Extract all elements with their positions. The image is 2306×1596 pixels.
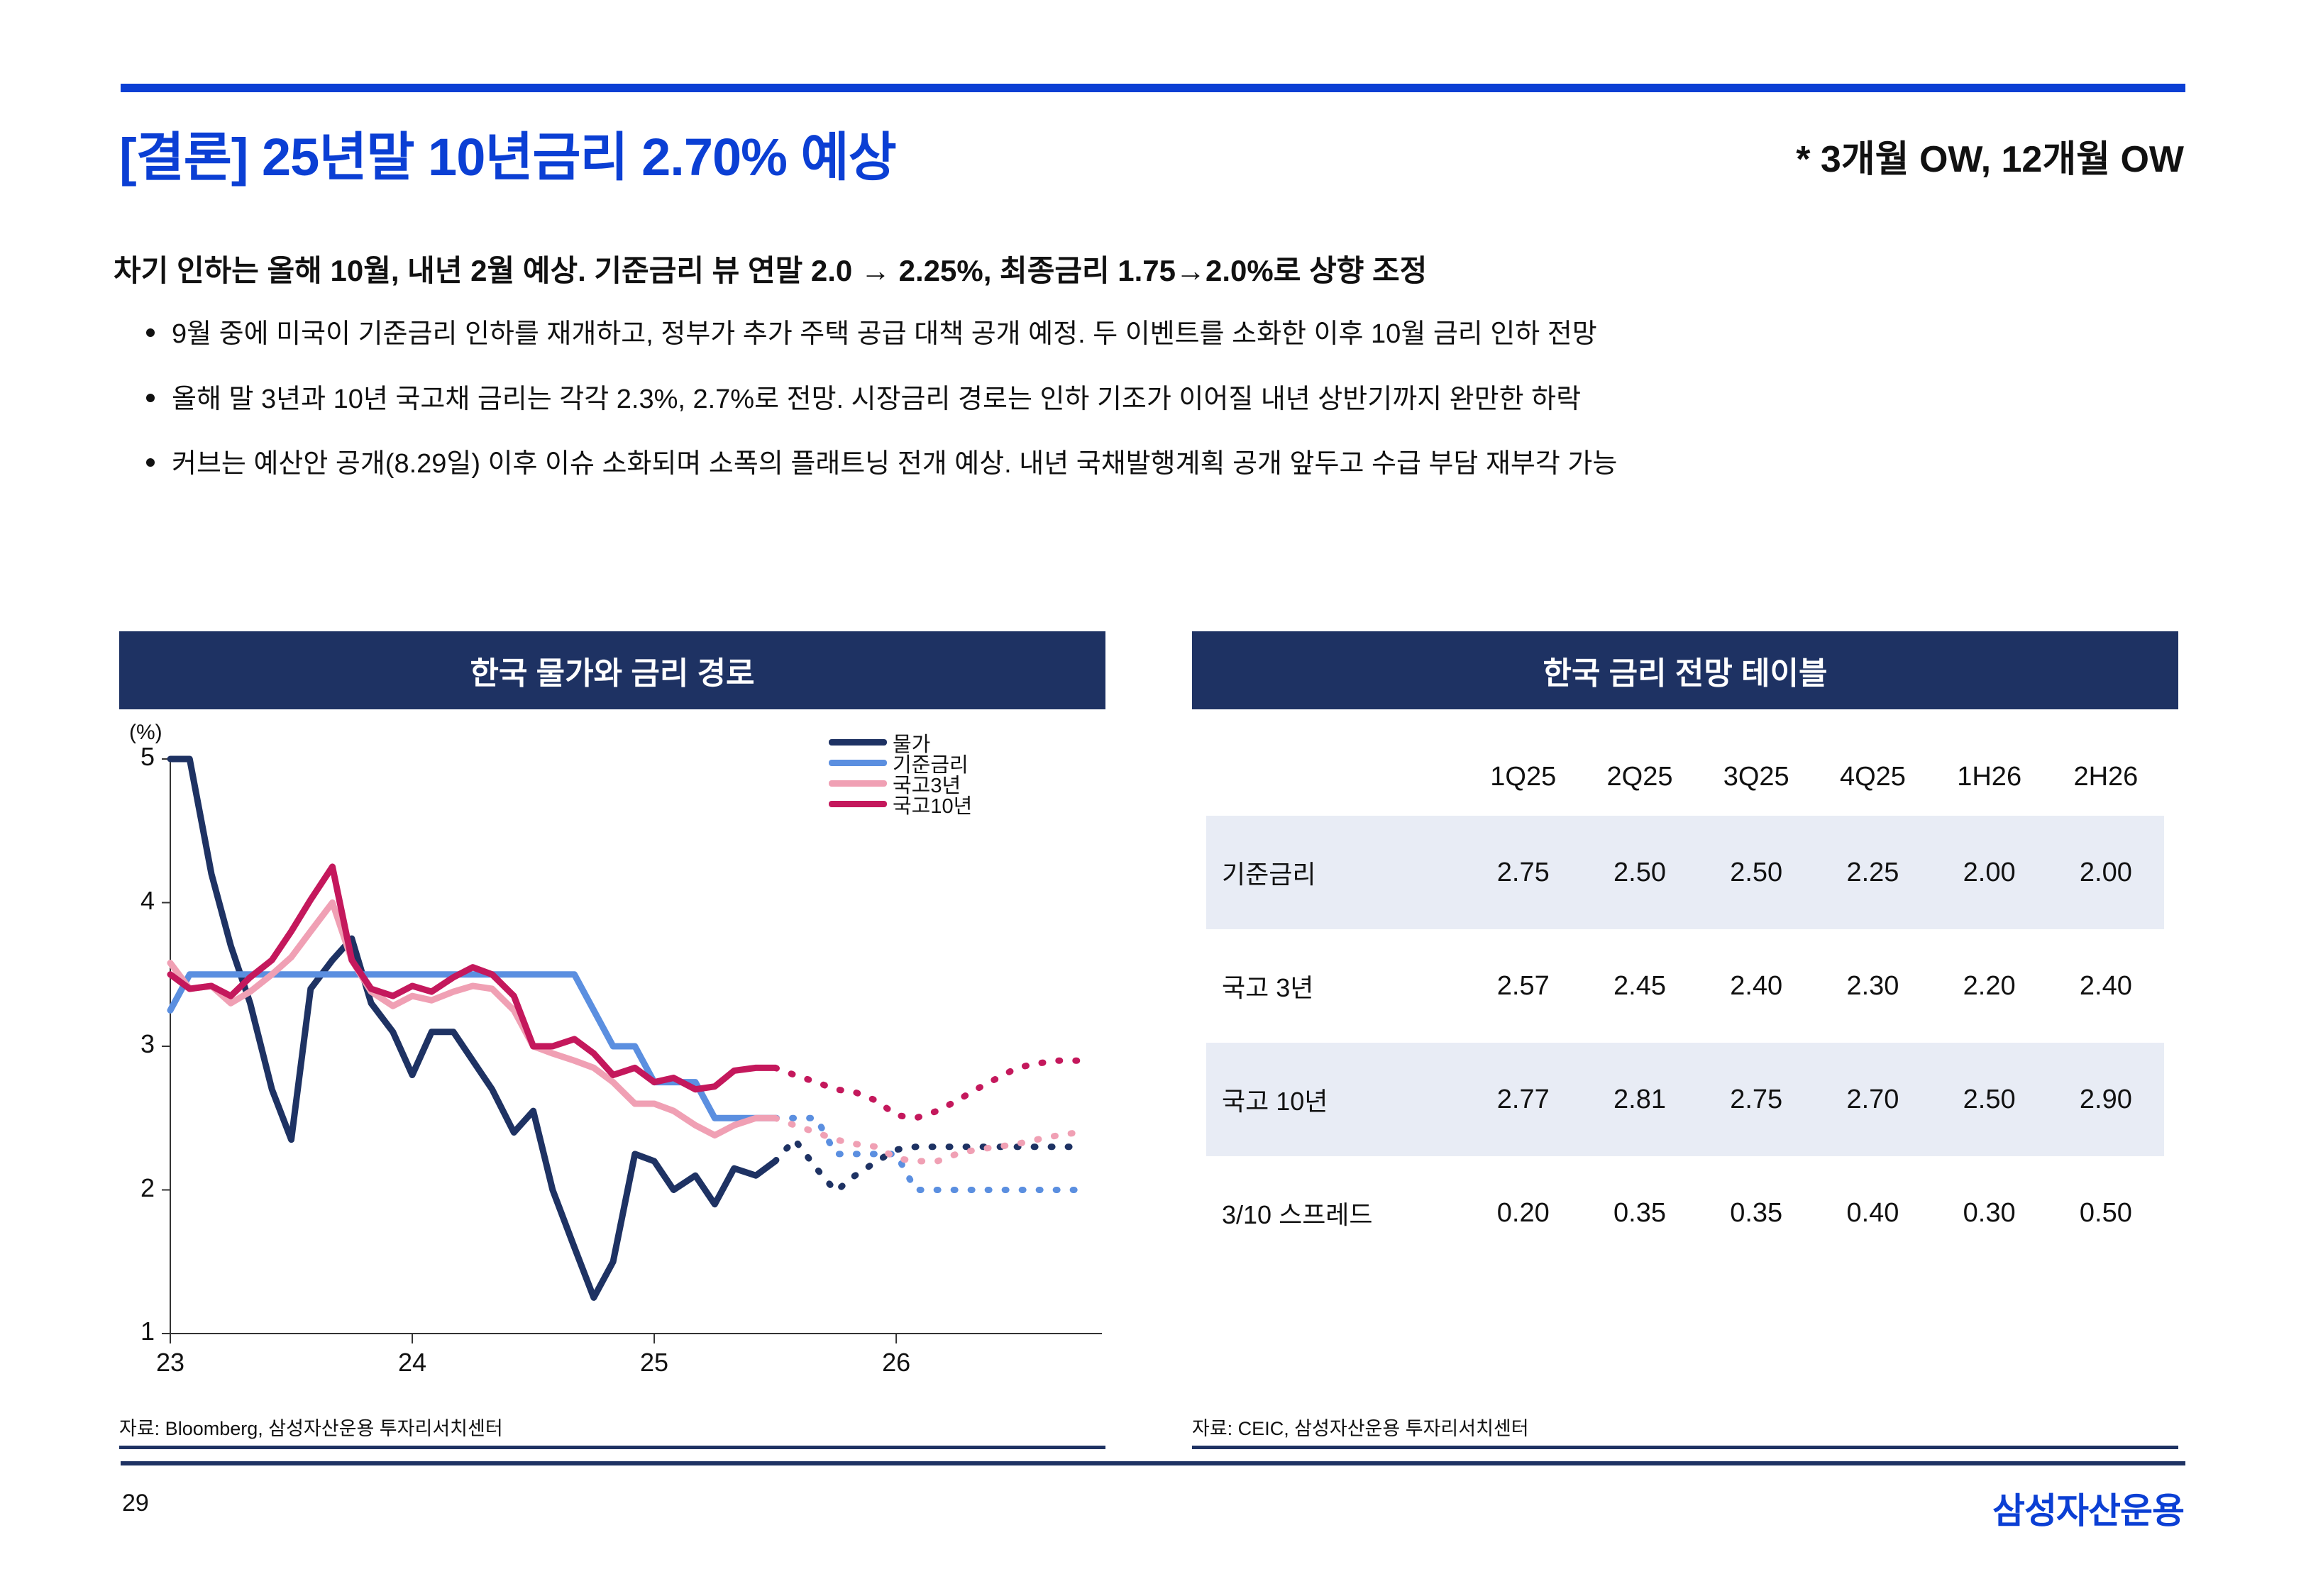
series-line-물가 — [170, 759, 776, 1297]
legend-label: 국고10년 — [893, 789, 972, 819]
table-cell: 2.50 — [1582, 816, 1698, 929]
legend-swatch-icon — [829, 739, 887, 746]
x-tick-label: 26 — [864, 1348, 928, 1378]
y-tick-label: 4 — [112, 886, 155, 916]
bullet-text: 올해 말 3년과 10년 국고채 금리는 각각 2.3%, 2.7%로 전망. … — [172, 384, 1581, 414]
table-panel-heading: 한국 금리 전망 테이블 — [1192, 631, 2178, 709]
table-cell: 2.30 — [1814, 929, 1931, 1043]
bullet-text: 커브는 예산안 공개(8.29일) 이후 이슈 소화되며 소폭의 플래트닝 전개… — [172, 449, 1617, 479]
table-column-header: 3Q25 — [1698, 738, 1814, 816]
legend-item: 국고10년 — [829, 794, 972, 814]
table-source-note: 자료: CEIC, 삼성자산운용 투자리서치센터 — [1192, 1413, 1529, 1441]
table-column-header: 2Q25 — [1582, 738, 1698, 816]
chart-unit-label: (%) — [129, 721, 162, 745]
y-tick-label: 5 — [112, 742, 155, 772]
table-cell: 0.35 — [1698, 1156, 1814, 1270]
page-title: [결론] 25년말 10년금리 2.70% 예상 — [119, 115, 896, 191]
chart-panel-rule — [119, 1446, 1105, 1449]
brand-logo: 삼성자산운용 — [1992, 1483, 2184, 1534]
table-cell: 2.00 — [2048, 816, 2164, 929]
table-header: 1Q252Q253Q254Q251H262H26 — [1206, 738, 2164, 816]
slide-page: [결론] 25년말 10년금리 2.70% 예상 * 3개월 OW, 12개월 … — [0, 0, 2306, 1596]
chart-panel-heading: 한국 물가와 금리 경로 — [119, 631, 1105, 709]
chart-source-note: 자료: Bloomberg, 삼성자산운용 투자리서치센터 — [119, 1413, 503, 1441]
table-cell: 2.81 — [1582, 1043, 1698, 1156]
table-cell: 2.40 — [1698, 929, 1814, 1043]
subtitle: 차기 인하는 올해 10월, 내년 2월 예상. 기준금리 뷰 연말 2.0 →… — [114, 247, 1427, 290]
table-column-header: 2H26 — [2048, 738, 2164, 816]
table-row: 국고 10년2.772.812.752.702.502.90 — [1206, 1043, 2164, 1156]
table-cell: 2.25 — [1814, 816, 1931, 929]
bullet-dot-icon — [146, 458, 155, 467]
table-row: 3/10 스프레드0.200.350.350.400.300.50 — [1206, 1156, 2164, 1270]
table-cell: 2.70 — [1814, 1043, 1931, 1156]
table-cell: 0.30 — [1931, 1156, 2048, 1270]
table-column-header: 4Q25 — [1814, 738, 1931, 816]
bullet-text: 9월 중에 미국이 기준금리 인하를 재개하고, 정부가 추가 주택 공급 대책… — [172, 319, 1597, 349]
chart-legend: 물가기준금리국고3년국고10년 — [829, 732, 972, 814]
rate-path-chart: (%) 물가기준금리국고3년국고10년 1234523242526 — [119, 716, 1105, 1408]
table-cell: 0.20 — [1465, 1156, 1582, 1270]
table-cell: 2.45 — [1582, 929, 1698, 1043]
table-row: 국고 3년2.572.452.402.302.202.40 — [1206, 929, 2164, 1043]
bullet-item: 9월 중에 미국이 기준금리 인하를 재개하고, 정부가 추가 주택 공급 대책… — [142, 319, 2200, 350]
table-cell: 2.20 — [1931, 929, 2048, 1043]
series-forecast-물가 — [776, 1140, 1078, 1192]
bullet-item: 올해 말 3년과 10년 국고채 금리는 각각 2.3%, 2.7%로 전망. … — [142, 384, 2200, 416]
table-cell: 2.90 — [2048, 1043, 2164, 1156]
table-cell: 0.50 — [2048, 1156, 2164, 1270]
table-cell: 2.40 — [2048, 929, 2164, 1043]
legend-swatch-icon — [829, 780, 887, 787]
series-forecast-기준금리 — [776, 1118, 1078, 1190]
bullet-list: 9월 중에 미국이 기준금리 인하를 재개하고, 정부가 추가 주택 공급 대책… — [142, 319, 2200, 514]
footer-rule — [121, 1461, 2185, 1465]
table-row-label: 3/10 스프레드 — [1206, 1156, 1465, 1270]
bullet-item: 커브는 예산안 공개(8.29일) 이후 이슈 소화되며 소폭의 플래트닝 전개… — [142, 449, 2200, 480]
bullet-dot-icon — [146, 394, 155, 402]
table-cell: 2.57 — [1465, 929, 1582, 1043]
x-tick-label: 23 — [138, 1348, 202, 1378]
table-cell: 0.35 — [1582, 1156, 1698, 1270]
table-cell: 2.77 — [1465, 1043, 1582, 1156]
table-row-label: 기준금리 — [1206, 816, 1465, 929]
x-tick-label: 25 — [622, 1348, 686, 1378]
table-cell: 2.50 — [1931, 1043, 2048, 1156]
table-header-row: 1Q252Q253Q254Q251H262H26 — [1206, 738, 2164, 816]
table-cell: 0.40 — [1814, 1156, 1931, 1270]
y-tick-label: 2 — [112, 1173, 155, 1203]
page-number: 29 — [122, 1490, 149, 1517]
x-tick-label: 24 — [380, 1348, 444, 1378]
table-column-header: 1H26 — [1931, 738, 2048, 816]
rate-forecast-table: 1Q252Q253Q254Q251H262H26 기준금리2.752.502.5… — [1206, 738, 2164, 1270]
series-forecast-국고10년 — [776, 1060, 1078, 1118]
table-cell: 2.75 — [1698, 1043, 1814, 1156]
table-column-header: 1Q25 — [1465, 738, 1582, 816]
table-row-label: 국고 3년 — [1206, 929, 1465, 1043]
table-cell: 2.00 — [1931, 816, 2048, 929]
series-line-국고3년 — [170, 903, 776, 1136]
bullet-dot-icon — [146, 328, 155, 337]
legend-swatch-icon — [829, 801, 887, 807]
chart-svg — [119, 716, 1105, 1408]
legend-swatch-icon — [829, 760, 887, 766]
table-cell: 2.50 — [1698, 816, 1814, 929]
table-body: 기준금리2.752.502.502.252.002.00국고 3년2.572.4… — [1206, 816, 2164, 1270]
title-note: * 3개월 OW, 12개월 OW — [1796, 129, 2184, 182]
table-row-label: 국고 10년 — [1206, 1043, 1465, 1156]
y-tick-label: 3 — [112, 1029, 155, 1059]
table-row: 기준금리2.752.502.502.252.002.00 — [1206, 816, 2164, 929]
header-top-rule — [121, 84, 2185, 92]
y-tick-label: 1 — [112, 1317, 155, 1346]
table-cell: 2.75 — [1465, 816, 1582, 929]
table-corner-cell — [1206, 738, 1465, 816]
table-panel-rule — [1192, 1446, 2178, 1449]
